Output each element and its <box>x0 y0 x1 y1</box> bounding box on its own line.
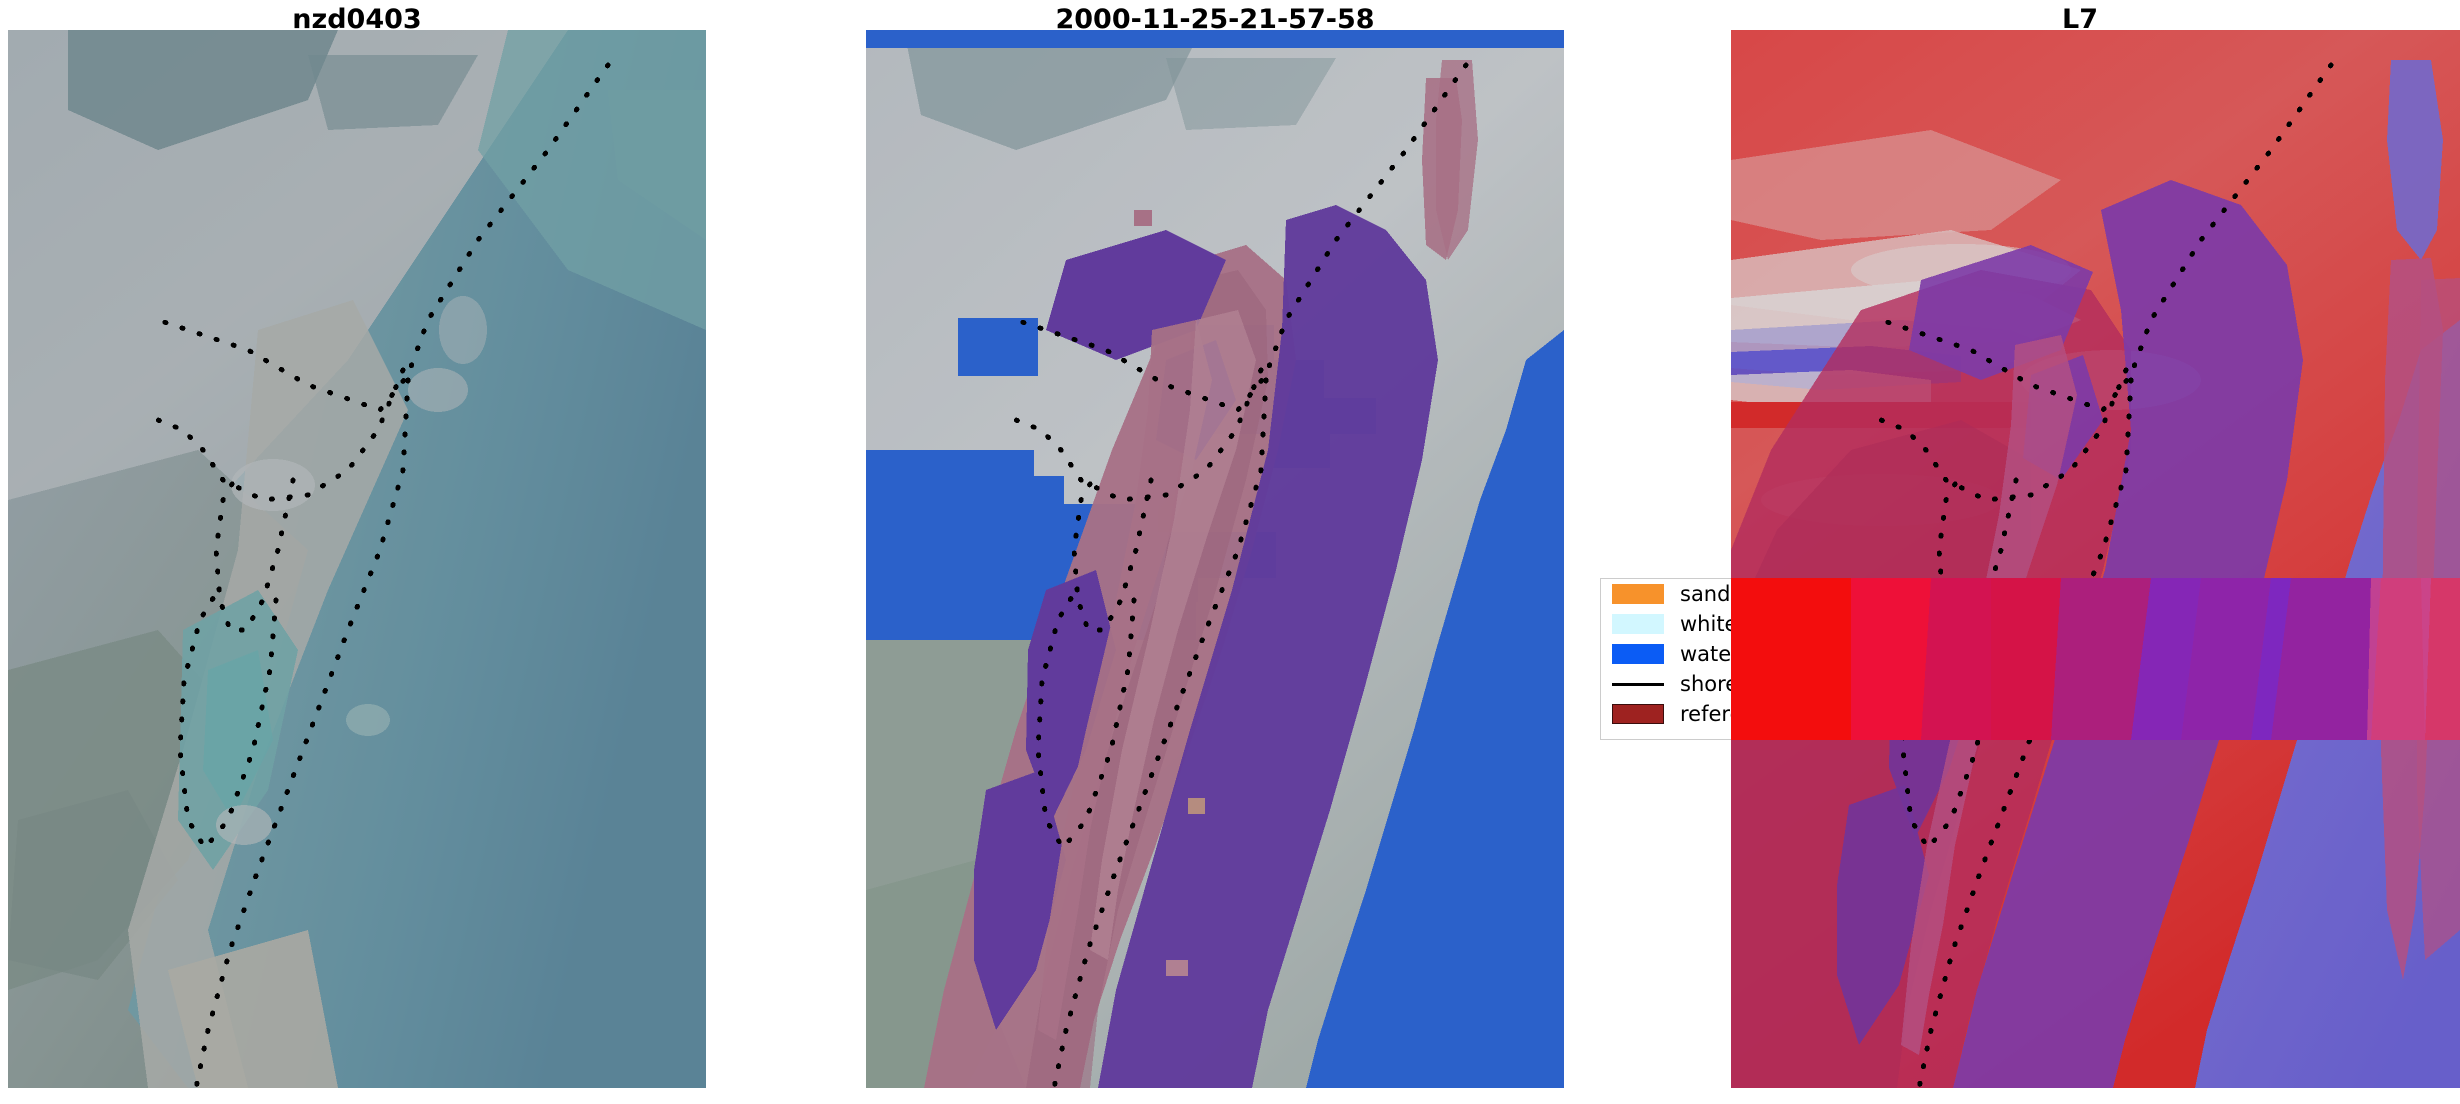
reference-swatch-icon <box>1612 704 1664 724</box>
classified-image-canvas <box>866 30 1564 1088</box>
l7-panel-clip-cover <box>1731 578 2460 740</box>
l7-image-canvas <box>1731 30 2460 1088</box>
sand-swatch-icon <box>1612 584 1664 604</box>
panel-classified <box>866 30 1564 1088</box>
panel-title-l7: L7 <box>1731 6 2429 33</box>
rgb-image-canvas <box>8 30 706 1088</box>
water-swatch-icon <box>1612 644 1664 664</box>
shoreline-line-icon <box>1612 674 1664 694</box>
legend-label-sand: sand <box>1680 582 1730 606</box>
panel-title-classified: 2000-11-25-21-57-58 <box>866 6 1564 33</box>
panel-rgb <box>8 30 706 1088</box>
panel-l7 <box>1731 30 2460 1088</box>
panel-title-nzd0403: nzd0403 <box>8 6 706 33</box>
whitewater-swatch-icon <box>1612 614 1664 634</box>
